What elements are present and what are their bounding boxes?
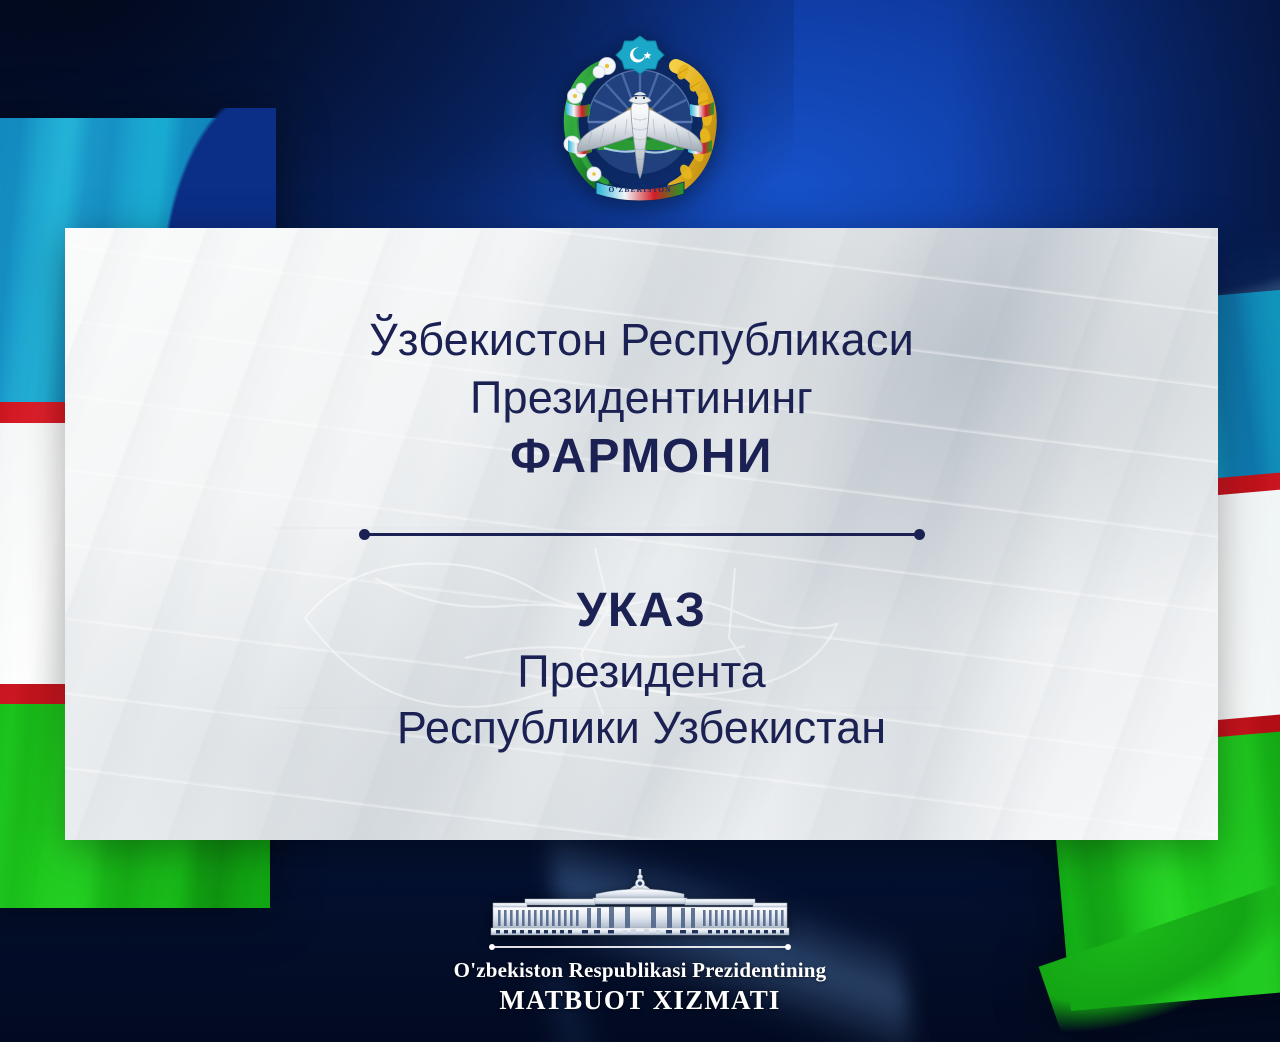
emblem-banner: O'ZBEKISTON bbox=[596, 182, 684, 201]
uzbek-title-line3-farmoni: ФАРМОНИ bbox=[369, 430, 914, 484]
footer-rule-dot-left bbox=[489, 944, 495, 950]
decree-poster: O'ZBEKISTON Ўзбекистон Республикаси През… bbox=[0, 0, 1280, 1042]
uzbek-title-line2: Президентининг bbox=[369, 373, 914, 423]
divider-bar bbox=[362, 533, 922, 536]
announcement-card: Ўзбекистон Республикаси Президентининг Ф… bbox=[65, 228, 1218, 840]
russian-title-line1-ukaz: УКАЗ bbox=[397, 584, 886, 639]
footer-rule bbox=[490, 943, 790, 951]
uzbek-title-line1: Ўзбекистон Республикаси bbox=[369, 315, 914, 365]
footer-rule-dot-right bbox=[785, 944, 791, 950]
footer-rule-bar bbox=[490, 946, 790, 948]
section-divider bbox=[362, 528, 922, 542]
press-service-footer: O'zbekiston Respublikasi Prezidentining … bbox=[430, 869, 850, 1016]
uzbek-title-block: Ўзбекистон Республикаси Президентининг Ф… bbox=[369, 315, 914, 484]
footer-line2-matbuot-xizmati: MATBUOT XIZMATI bbox=[499, 985, 780, 1016]
oqsaroy-presidential-palace-icon bbox=[465, 869, 815, 941]
russian-title-line2: Президента bbox=[397, 646, 886, 697]
divider-dot-right bbox=[914, 529, 925, 540]
russian-title-line3: Республики Узбекистан bbox=[397, 702, 886, 753]
divider-dot-left bbox=[359, 529, 370, 540]
state-emblem-icon: O'ZBEKISTON bbox=[552, 22, 728, 208]
emblem-banner-text: O'ZBEKISTON bbox=[609, 185, 672, 194]
russian-title-block: УКАЗ Президента Республики Узбекистан bbox=[397, 584, 886, 753]
footer-line1: O'zbekiston Respublikasi Prezidentining bbox=[454, 958, 827, 983]
